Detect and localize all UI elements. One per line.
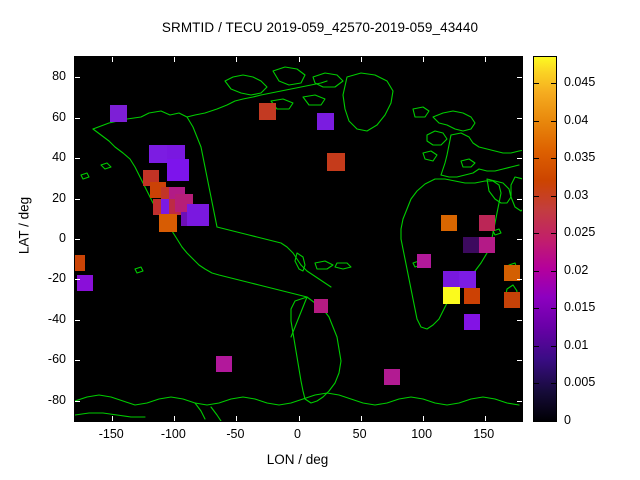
colorbar-tick [551,383,556,384]
colorbar-tick-label: 0.025 [564,225,595,239]
x-tick [361,416,362,421]
colorbar-tick-label: 0.015 [564,300,595,314]
x-tick [174,416,175,421]
data-markers-layer [75,57,522,421]
colorbar-tick-label: 0.03 [564,188,588,202]
y-tick [517,118,522,119]
colorbar-tick [551,346,556,347]
colorbar-tick [551,308,556,309]
x-tick-label: 0 [294,427,301,441]
data-marker [384,369,400,385]
x-tick-label: 100 [411,427,432,441]
colorbar-tick-label: 0.04 [564,113,588,127]
colorbar-tick-label: 0.005 [564,375,595,389]
map-plot-area[interactable] [74,56,523,422]
x-tick [423,57,424,62]
x-tick-label: -100 [161,427,186,441]
x-tick [299,57,300,62]
colorbar-tick [534,121,539,122]
data-marker [77,275,93,291]
x-tick [485,416,486,421]
data-marker [441,215,457,231]
colorbar-tick [551,196,556,197]
data-marker [464,288,480,304]
colorbar-tick [534,271,539,272]
y-tick-label: -80 [22,393,66,407]
data-marker [504,292,520,308]
y-tick [517,199,522,200]
colorbar-tick [551,421,556,422]
x-tick-label: -150 [99,427,124,441]
colorbar-tick-label: 0.01 [564,338,588,352]
y-tick [75,199,80,200]
colorbar[interactable] [533,56,557,422]
y-tick [517,360,522,361]
data-marker [314,299,328,313]
y-tick [517,158,522,159]
x-tick [112,57,113,62]
colorbar-tick [551,158,556,159]
data-marker [216,356,232,372]
data-marker [74,255,85,271]
colorbar-tick [551,83,556,84]
page-title: SRMTID / TECU 2019-059_42570-2019-059_43… [0,20,640,35]
x-tick-label: -50 [226,427,244,441]
y-tick [517,279,522,280]
data-marker [463,237,479,253]
y-tick [75,360,80,361]
data-marker [464,314,480,330]
colorbar-tick-label: 0.045 [564,75,595,89]
data-marker [443,271,460,288]
colorbar-tick [534,421,539,422]
data-marker [479,237,495,253]
x-tick [361,57,362,62]
x-tick [236,57,237,62]
y-tick [75,158,80,159]
data-marker [443,287,460,304]
colorbar-tick [534,308,539,309]
x-tick [423,416,424,421]
data-marker [167,159,189,181]
colorbar-tick-label: 0.02 [564,263,588,277]
data-marker [159,214,177,232]
colorbar-tick [534,233,539,234]
colorbar-tick [534,158,539,159]
y-tick [75,320,80,321]
colorbar-gradient [534,57,556,421]
y-tick [75,279,80,280]
y-tick [517,239,522,240]
x-tick [299,416,300,421]
x-tick [485,57,486,62]
x-tick-label: 150 [473,427,494,441]
y-tick [75,77,80,78]
x-tick [236,416,237,421]
colorbar-tick [551,233,556,234]
data-marker [327,153,345,171]
colorbar-tick [551,271,556,272]
x-axis-label: LON / deg [74,452,521,467]
colorbar-tick [534,346,539,347]
x-tick [174,57,175,62]
data-marker [110,105,127,122]
x-tick-label: 50 [353,427,367,441]
colorbar-tick [534,196,539,197]
figure-canvas: SRMTID / TECU 2019-059_42570-2019-059_43… [0,0,640,480]
y-tick [517,77,522,78]
data-marker [259,103,276,120]
colorbar-tick [551,121,556,122]
colorbar-tick-label: 0.035 [564,150,595,164]
data-marker [317,113,334,130]
data-marker [417,254,431,268]
data-marker [149,145,167,163]
y-tick [75,118,80,119]
colorbar-tick [534,83,539,84]
data-marker [187,204,209,226]
y-tick [517,401,522,402]
colorbar-tick [534,383,539,384]
y-tick-label: -60 [22,352,66,366]
data-marker [479,215,495,231]
y-axis-label: LAT / deg [17,116,32,336]
colorbar-tick-label: 0 [564,413,571,427]
y-tick-label: 80 [22,69,66,83]
data-marker [459,271,476,288]
y-tick [517,320,522,321]
x-tick [112,416,113,421]
y-tick [75,239,80,240]
y-tick [75,401,80,402]
